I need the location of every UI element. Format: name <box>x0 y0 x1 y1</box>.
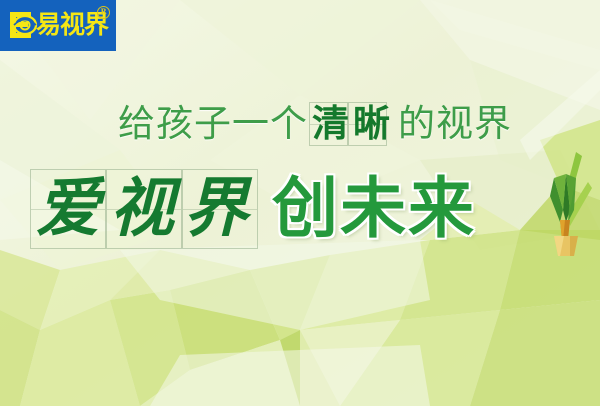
brand-logo[interactable]: 易视界 R <box>0 0 116 51</box>
slogan: 爱视界 创未来 <box>30 163 476 255</box>
slogan-part-one-text: 爱视界 <box>30 171 264 246</box>
registered-trademark-icon: R <box>97 6 110 19</box>
slogan-part-one-group: 爱视界 <box>30 171 264 247</box>
slogan-part-two-text: 创未来 <box>272 170 476 248</box>
headline-tail-text: 的视界 <box>398 102 512 146</box>
promotional-banner: 易视界 R 给孩子一个 清晰 的视界 爱视界 创未来 <box>0 0 600 406</box>
sprout-plant-icon <box>536 152 594 256</box>
headline: 给孩子一个 清晰 的视界 <box>118 99 512 149</box>
headline-accent-text: 清晰 <box>309 102 397 145</box>
headline-lead-text: 给孩子一个 <box>118 102 308 146</box>
headline-accent-group: 清晰 <box>309 102 397 146</box>
